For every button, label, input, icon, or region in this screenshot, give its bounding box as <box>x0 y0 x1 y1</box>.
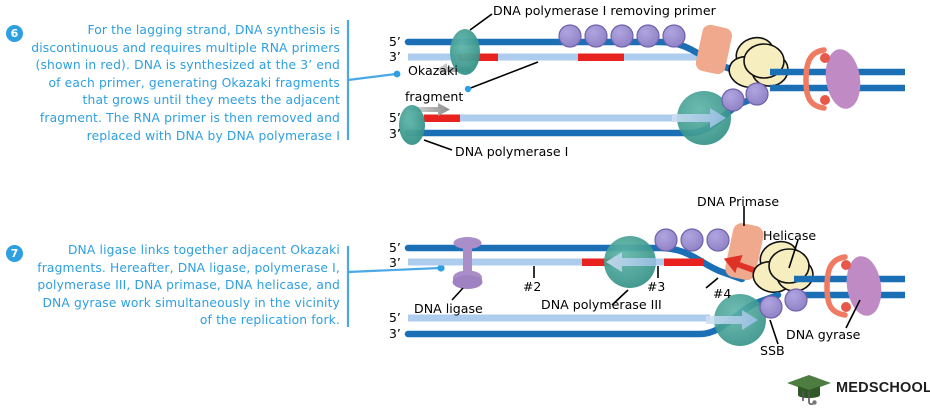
rna-primer <box>424 115 460 123</box>
label-helicase: Helicase <box>763 228 816 243</box>
leader-lines-top <box>424 14 538 150</box>
label-okazaki-line1: Okazaki <box>408 63 458 78</box>
ssb-protein <box>559 25 581 47</box>
strand-end-5prime: 5’ <box>389 34 401 49</box>
ssb-protein <box>585 25 607 47</box>
label-dna-polymerase-one: DNA polymerase I <box>455 144 568 159</box>
ssb-group-bottom-upper <box>655 229 729 251</box>
rna-primer <box>578 54 624 62</box>
ssb-protein <box>722 89 744 111</box>
ssb-protein <box>760 296 782 318</box>
strand-end-3prime: 3’ <box>389 49 401 64</box>
ssb-protein <box>681 229 703 251</box>
ssb-protein <box>637 25 659 47</box>
marker-4: #4 <box>713 286 731 301</box>
marker-2: #2 <box>523 279 541 294</box>
diagram-svg <box>0 0 930 413</box>
rna-primer <box>664 259 704 267</box>
ssb-group-top <box>559 25 685 47</box>
logo-wordmark: MEDSCHOOLCOACH <box>836 380 930 396</box>
label-ssb: SSB <box>760 343 785 358</box>
ssb-protein <box>785 289 807 311</box>
label-polymerase-removing-primer: DNA polymerase I removing primer <box>493 3 716 18</box>
medschoolcoach-logo[interactable]: MEDSCHOOLCOACH <box>786 372 926 408</box>
dna-polymerase-one-bottom <box>399 105 425 145</box>
strand-end-5prime: 5’ <box>389 110 401 125</box>
marker-3: #3 <box>647 279 665 294</box>
strand-end-5prime: 5’ <box>389 310 401 325</box>
ssb-protein <box>611 25 633 47</box>
strand-end-3prime: 3’ <box>389 126 401 141</box>
graduation-cap-stethoscope-icon <box>786 372 834 408</box>
label-dna-polymerase-three: DNA polymerase III <box>541 297 662 312</box>
ssb-protein <box>655 229 677 251</box>
ssb-protein <box>746 83 768 105</box>
dna-gyrase-top <box>806 47 864 111</box>
ssb-protein <box>663 25 685 47</box>
label-dna-primase: DNA Primase <box>697 194 779 209</box>
label-okazaki-line2: fragment <box>405 89 463 104</box>
okazaki-anchor-dot <box>465 86 471 92</box>
label-dna-ligase: DNA ligase <box>414 301 483 316</box>
strand-end-5prime: 5’ <box>389 240 401 255</box>
strand-end-3prime: 3’ <box>389 326 401 341</box>
label-dna-gyrase: DNA gyrase <box>786 327 860 342</box>
logo-word-one: MEDSCHOOL <box>836 380 930 396</box>
strand-end-3prime: 3’ <box>389 255 401 270</box>
ssb-protein <box>707 229 729 251</box>
figure-canvas: 6 For the lagging strand, DNA synthesis … <box>0 0 930 413</box>
